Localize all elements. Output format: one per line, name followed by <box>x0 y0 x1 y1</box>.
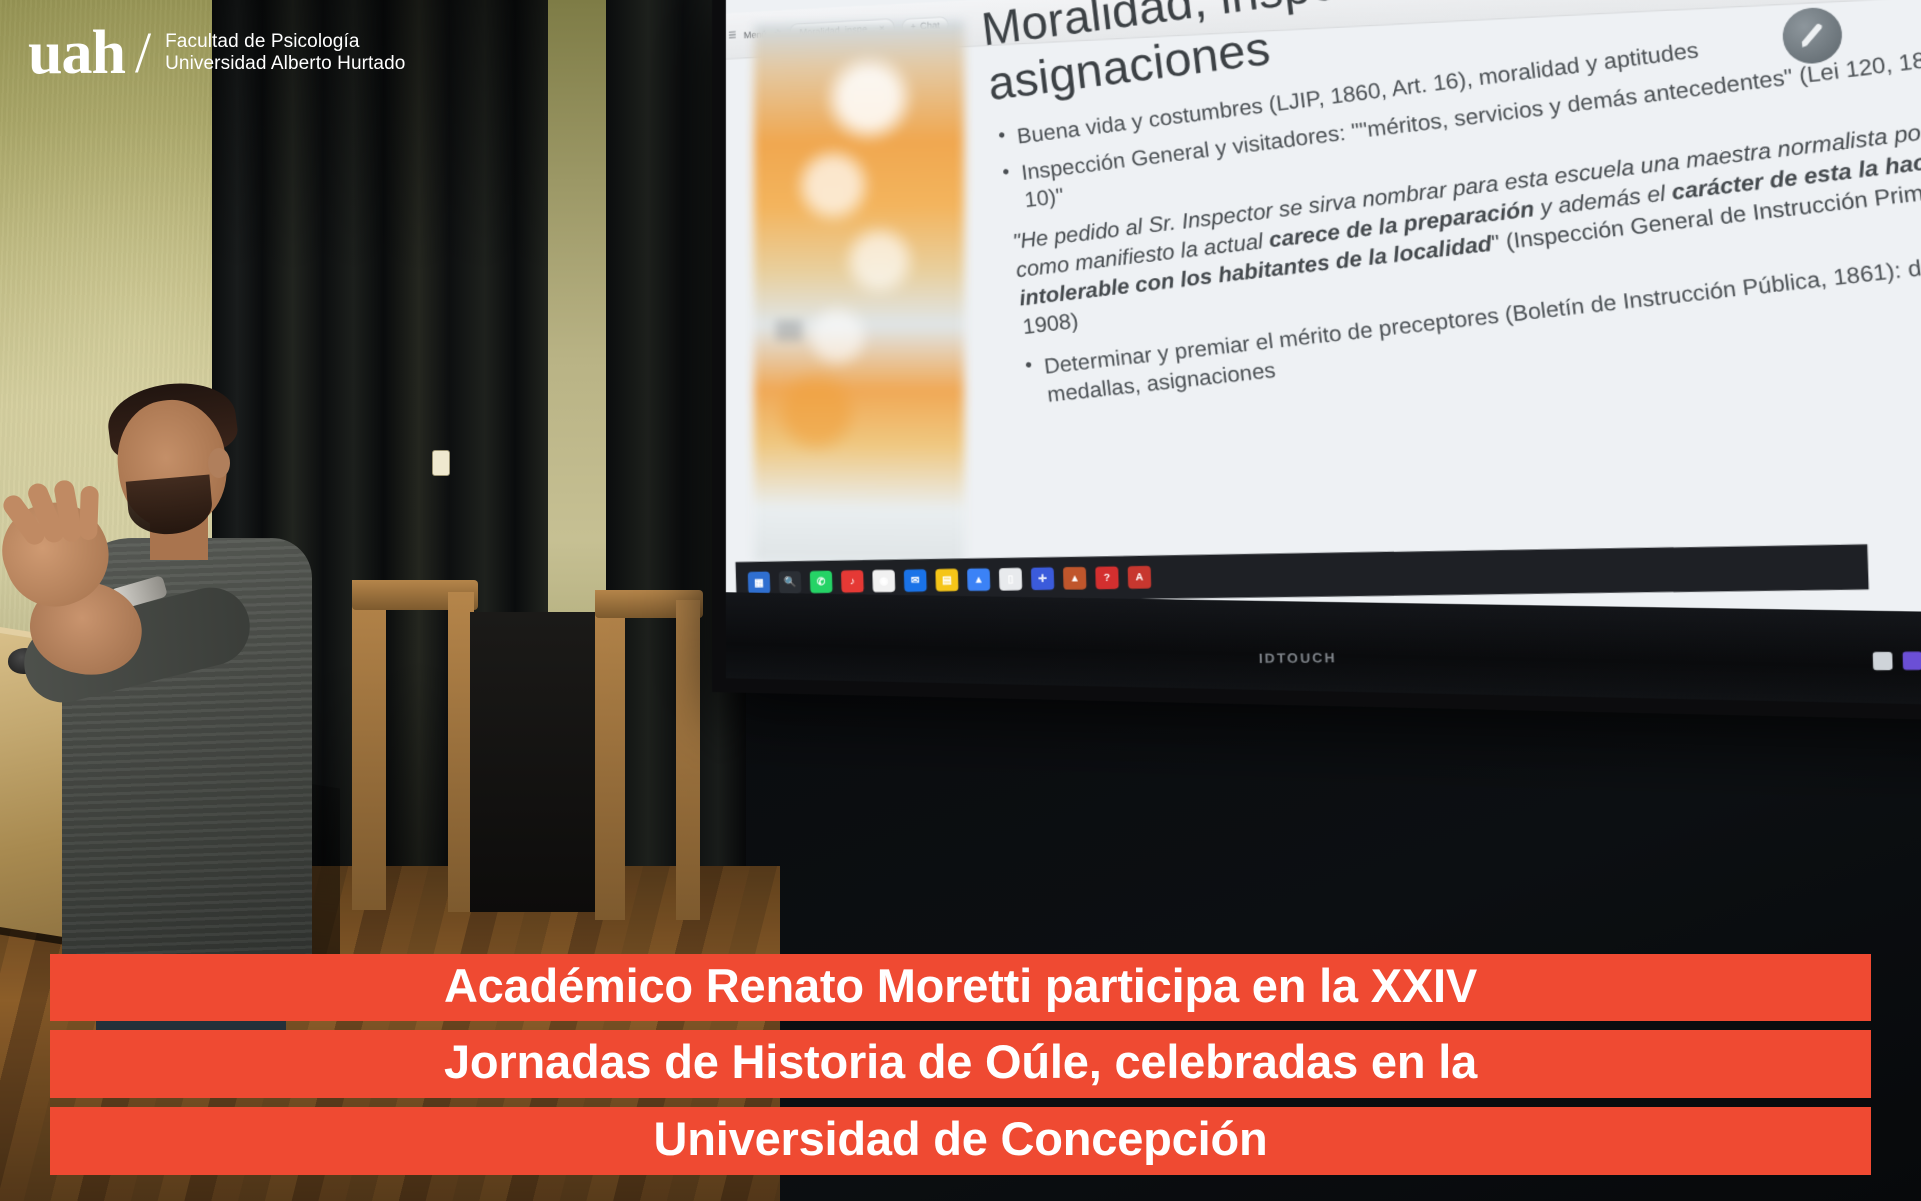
finger-4 <box>79 486 99 541</box>
display-screen: ☰ Menú ☆ Moralidad, inspe... × + Chat <box>726 0 1921 615</box>
display-brand: IDTOUCH <box>1258 650 1336 666</box>
chair-leg-right <box>676 600 700 920</box>
music-icon[interactable]: ♪ <box>841 570 864 593</box>
speaker-person <box>0 370 360 1010</box>
bluetooth-icon[interactable]: ✛ <box>1031 567 1054 590</box>
news-graphic: ☰ Menú ☆ Moralidad, inspe... × + Chat <box>0 0 1921 1201</box>
pen-icon <box>1796 20 1829 51</box>
whatsapp-icon[interactable]: ✆ <box>810 571 833 593</box>
headline-line-2: Jornadas de Historia de Oúle, celebradas… <box>50 1030 1871 1098</box>
wall-socket <box>432 450 450 476</box>
files-icon[interactable]: ▤ <box>935 569 958 592</box>
help-icon[interactable]: ? <box>1095 566 1119 589</box>
drive-icon[interactable]: ▲ <box>967 568 990 591</box>
interactive-display: ☰ Menú ☆ Moralidad, inspe... × + Chat <box>712 0 1921 721</box>
logo-faculty: Facultad de Psicología <box>165 31 405 53</box>
hamburger-icon[interactable] <box>776 322 802 325</box>
headline-banner: Académico Renato Moretti participa en la… <box>0 954 1921 1201</box>
chair-dark <box>470 612 602 912</box>
logo-wordmark: uah <box>28 24 125 83</box>
system-tray[interactable] <box>1873 651 1921 670</box>
menu-icon[interactable]: ☰ <box>728 30 737 41</box>
chrome-icon[interactable]: ◉ <box>872 570 895 593</box>
logo-university: Universidad Alberto Hurtado <box>165 53 405 75</box>
headline-line-1: Académico Renato Moretti participa en la… <box>50 954 1871 1022</box>
document-icon[interactable]: ▯ <box>999 568 1022 591</box>
logo-slash: / <box>135 24 151 82</box>
mail-icon[interactable]: ✉ <box>904 569 927 592</box>
headline-line-3: Universidad de Concepción <box>50 1107 1871 1175</box>
person-ear <box>208 448 230 478</box>
onedrive-icon[interactable] <box>1903 652 1921 670</box>
pdf-icon[interactable]: A <box>1128 566 1152 589</box>
calibre-icon[interactable]: ▲ <box>1063 567 1087 590</box>
chair-back-right <box>595 590 625 920</box>
slide-content: Moralidad, inspección y asignaciones Bue… <box>979 0 1921 569</box>
app-launcher-icon[interactable]: ▦ <box>748 572 771 594</box>
logo-subtitle: Facultad de Psicología Universidad Alber… <box>165 31 405 76</box>
uah-logo: uah / Facultad de Psicología Universidad… <box>28 24 405 83</box>
slide-side-image <box>754 21 964 565</box>
chevron-up-icon[interactable] <box>1873 652 1893 670</box>
search-icon[interactable]: 🔍 <box>779 571 802 593</box>
